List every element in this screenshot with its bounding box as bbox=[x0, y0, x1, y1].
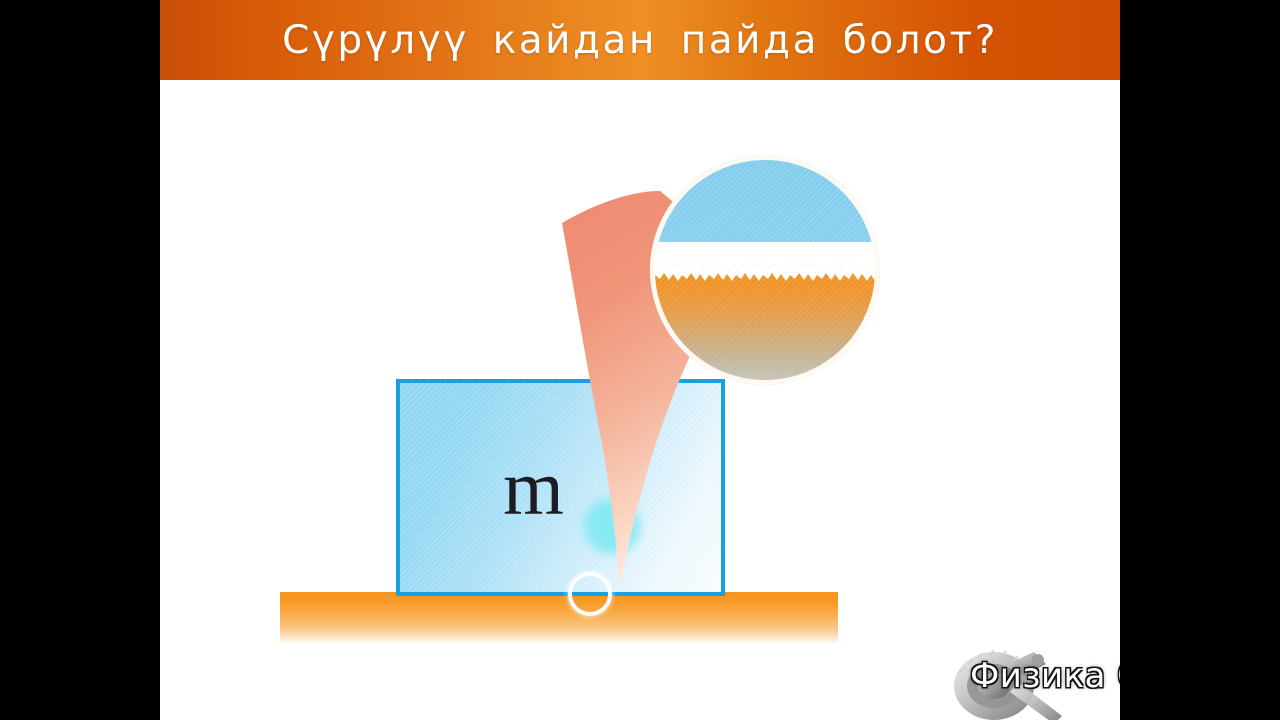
contact-point-ring bbox=[568, 572, 612, 616]
presentation-toolbar[interactable] bbox=[168, 690, 360, 717]
grid-icon bbox=[273, 696, 289, 712]
triangle-left-icon bbox=[174, 696, 189, 711]
ellipsis-icon bbox=[339, 696, 355, 712]
presentation-fullscreen-stage: Сүрүлүү кайдан пайда болот? m bbox=[0, 0, 1280, 720]
slide-title-text: Сүрүлүү кайдан пайда болот? bbox=[282, 18, 998, 63]
slide-grid-button[interactable] bbox=[267, 690, 294, 717]
magnifier-content bbox=[650, 155, 880, 385]
pen-icon bbox=[239, 695, 256, 712]
next-slide-button[interactable] bbox=[201, 690, 228, 717]
magnifier-icon bbox=[306, 696, 322, 712]
slide-canvas: Сүрүлүү кайдан пайда болот? m bbox=[160, 0, 1120, 720]
slide-title-banner: Сүрүлүү кайдан пайда болот? bbox=[160, 0, 1120, 80]
triangle-right-icon bbox=[207, 696, 222, 711]
more-options-button[interactable] bbox=[333, 690, 360, 717]
watermark: Физика Online bbox=[950, 632, 1120, 720]
physics-diagram: m bbox=[160, 80, 1120, 720]
pen-tool-button[interactable] bbox=[234, 690, 261, 717]
previous-slide-button[interactable] bbox=[168, 690, 195, 717]
magnifier-circle bbox=[650, 155, 880, 385]
gear-icon bbox=[950, 638, 1070, 720]
zoom-button[interactable] bbox=[300, 690, 327, 717]
magnified-roughness-interface bbox=[650, 242, 880, 288]
watermark-text: Физика Online bbox=[970, 656, 1120, 696]
